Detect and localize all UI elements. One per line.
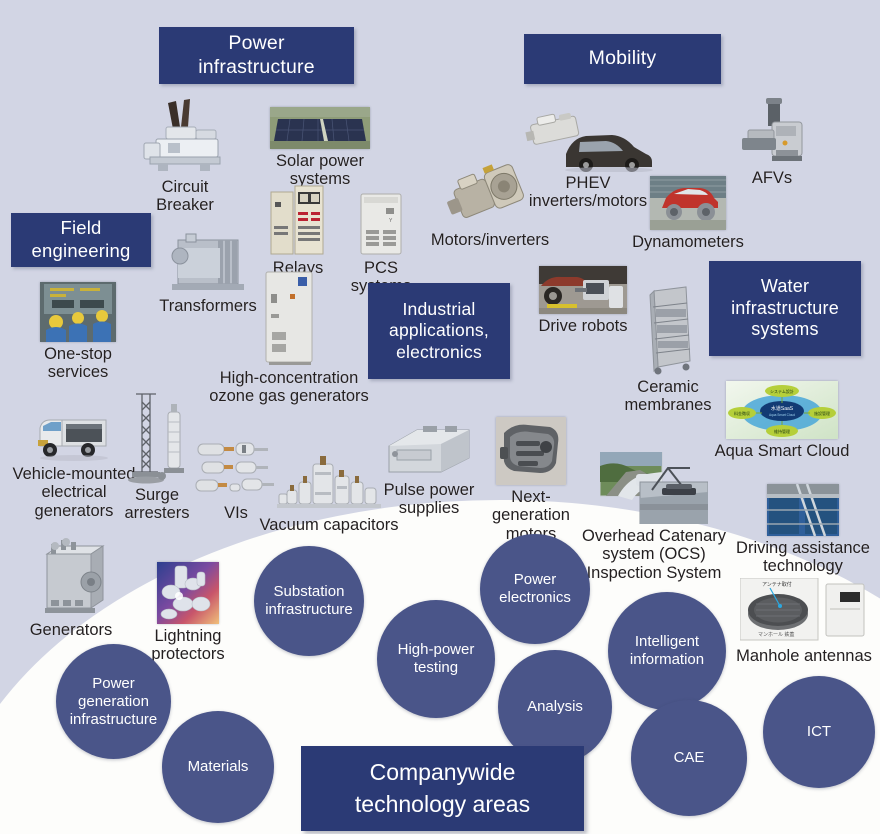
- item-surge-arresters[interactable]: Surge arresters: [112, 392, 202, 523]
- drive-robots-image: [539, 266, 627, 314]
- item-drive-robots[interactable]: Drive robots: [533, 266, 633, 335]
- item-label: Dynamometers: [632, 233, 744, 251]
- item-label: Pulse power supplies: [384, 481, 475, 518]
- aqua-node-3: 維持管理: [774, 428, 790, 434]
- header-power-infrastructure[interactable]: Power infrastructure: [159, 27, 354, 84]
- item-label: Ceramic membranes: [624, 378, 711, 415]
- vehicle-generators-image: [36, 412, 112, 462]
- circle-cae[interactable]: CAE: [631, 700, 747, 816]
- aqua-node-1: 料金徴収: [734, 410, 750, 416]
- item-label: Drive robots: [539, 317, 628, 335]
- circle-ict[interactable]: ICT: [763, 676, 875, 788]
- next-generation-motors-image: [496, 417, 566, 485]
- vacuum-capacitors-image: [277, 452, 381, 514]
- ceramic-membranes-image: [640, 285, 696, 375]
- header-label: Water infrastructure systems: [731, 276, 839, 342]
- item-ocs-inspection[interactable]: Overhead Catenary system (OCS) Inspectio…: [578, 452, 730, 582]
- svg-text:Aqua Smart Cloud: Aqua Smart Cloud: [769, 413, 795, 417]
- item-label: Surge arresters: [124, 486, 189, 523]
- ozone-generators-image: [260, 270, 318, 366]
- item-label: One-stop services: [44, 345, 112, 382]
- item-label: Manhole antennas: [736, 647, 872, 665]
- circle-substation-infrastructure[interactable]: Substation infrastructure: [254, 546, 364, 656]
- header-label: Industrial applications, electronics: [389, 299, 489, 363]
- manhole-callout: アンテナ取付: [762, 581, 792, 588]
- item-label: Circuit Breaker: [156, 178, 214, 215]
- item-manhole-antennas[interactable]: アンテナ取付 マンホール 鉄蓋 Manhole antennas: [729, 578, 879, 665]
- item-label: Generators: [30, 621, 113, 639]
- surge-arresters-image: [120, 392, 194, 484]
- item-ozone-generators[interactable]: High-concentration ozone gas generators: [208, 270, 370, 406]
- item-pulse-power-supplies[interactable]: Pulse power supplies: [378, 424, 480, 518]
- manhole-caption: マンホール 鉄蓋: [758, 631, 794, 638]
- item-next-generation-motors[interactable]: Next-generation motors: [473, 417, 589, 543]
- header-label: Mobility: [589, 47, 657, 71]
- manhole-antennas-image: アンテナ取付 マンホール 鉄蓋: [740, 578, 868, 644]
- header-water-infrastructure[interactable]: Water infrastructure systems: [709, 261, 861, 356]
- banner-label: Companywide technology areas: [355, 757, 530, 819]
- circle-label: High-power testing: [398, 641, 475, 677]
- circle-intelligent-information[interactable]: Intelligent information: [608, 592, 726, 710]
- item-label: Overhead Catenary system (OCS) Inspectio…: [582, 527, 726, 582]
- item-solar-power-systems[interactable]: Solar power systems: [246, 107, 394, 189]
- item-aqua-smart-cloud[interactable]: 水道SaaS Aqua Smart Cloud システム設計 料金徴収 施設管理…: [712, 381, 852, 460]
- item-label: Aqua Smart Cloud: [715, 442, 850, 460]
- ocs-inspection-image: [600, 452, 708, 524]
- aqua-node-2: 施設管理: [814, 410, 830, 416]
- item-one-stop-services[interactable]: One-stop services: [28, 282, 128, 382]
- infographic-canvas: Power infrastructure Mobility Field engi…: [0, 0, 880, 834]
- item-label: Driving assistance technology: [736, 539, 870, 576]
- item-label: Motors/inverters: [431, 231, 549, 249]
- aqua-node-0: システム設計: [770, 388, 794, 394]
- relays-image: [267, 182, 329, 256]
- circle-label: ICT: [807, 723, 831, 741]
- header-field-engineering[interactable]: Field engineering: [11, 213, 151, 267]
- item-ceramic-membranes[interactable]: Ceramic membranes: [620, 285, 716, 415]
- circle-label: Materials: [188, 758, 249, 776]
- item-label: VIs: [224, 504, 248, 522]
- circle-label: CAE: [674, 749, 705, 767]
- header-label: Power infrastructure: [198, 32, 315, 80]
- item-label: Vacuum capacitors: [259, 516, 398, 534]
- circle-high-power-testing[interactable]: High-power testing: [377, 600, 495, 718]
- item-label: High-concentration ozone gas generators: [209, 369, 369, 406]
- lightning-protectors-image: [157, 562, 219, 624]
- item-relays[interactable]: Relays: [262, 182, 334, 277]
- circle-power-generation-infrastructure[interactable]: Power generation infrastructure: [56, 644, 171, 759]
- header-industrial-applications[interactable]: Industrial applications, electronics: [368, 283, 510, 379]
- circle-label: Power electronics: [499, 571, 571, 607]
- circuit-breaker-image: [138, 97, 232, 175]
- item-generators[interactable]: Generators: [18, 538, 124, 639]
- item-circuit-breaker[interactable]: Circuit Breaker: [135, 97, 235, 215]
- dynamometers-image: [650, 176, 726, 230]
- circle-label: Analysis: [527, 698, 583, 716]
- driving-assistance-image: [767, 484, 839, 536]
- companywide-technology-areas-banner[interactable]: Companywide technology areas: [301, 746, 584, 831]
- phev-inverters-image: [522, 110, 654, 172]
- aqua-smart-cloud-image: 水道SaaS Aqua Smart Cloud システム設計 料金徴収 施設管理…: [726, 381, 838, 439]
- header-mobility[interactable]: Mobility: [524, 34, 721, 84]
- circle-materials[interactable]: Materials: [162, 711, 274, 823]
- circle-power-electronics[interactable]: Power electronics: [480, 534, 590, 644]
- pulse-power-supplies-image: [383, 424, 475, 478]
- afvs-image: [736, 98, 808, 166]
- pcs-systems-image: Y: [356, 192, 406, 256]
- solar-power-systems-image: [270, 107, 370, 149]
- circle-label: Power generation infrastructure: [70, 675, 158, 729]
- item-label: AFVs: [752, 169, 792, 187]
- one-stop-services-image: [40, 282, 116, 342]
- circle-label: Intelligent information: [630, 633, 704, 669]
- item-afvs[interactable]: AFVs: [728, 98, 816, 187]
- header-label: Field engineering: [32, 217, 131, 262]
- generators-image: [33, 538, 109, 618]
- circle-label: Substation infrastructure: [265, 583, 353, 619]
- item-driving-assistance[interactable]: Driving assistance technology: [727, 484, 879, 576]
- aqua-center-label: 水道SaaS: [771, 405, 794, 412]
